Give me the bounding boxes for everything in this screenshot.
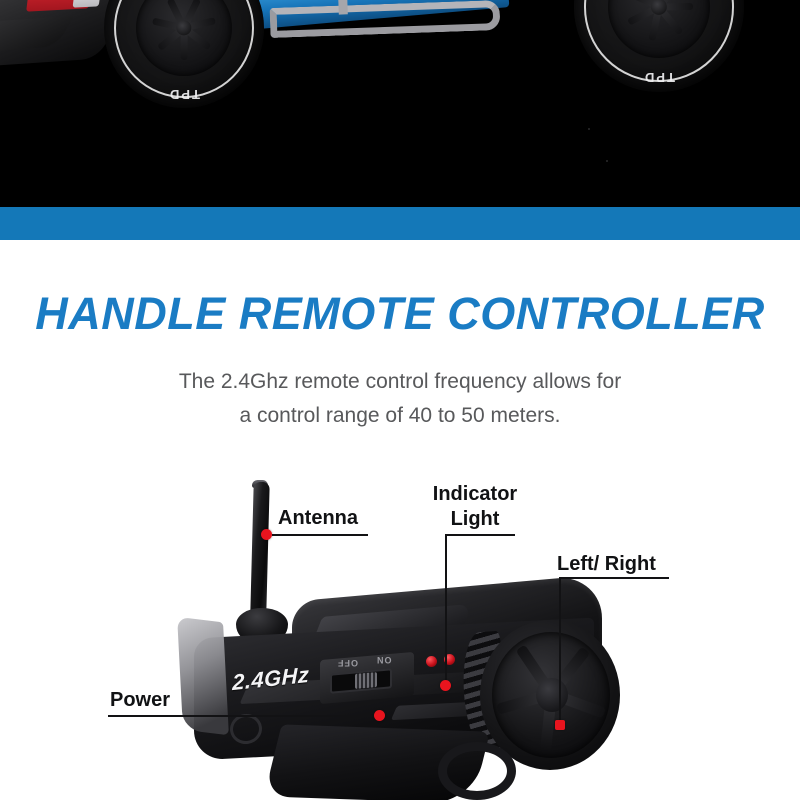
car-rear-fender bbox=[0, 0, 116, 68]
car-wheel-left: TPD bbox=[104, 0, 264, 108]
blue-divider-bar bbox=[0, 207, 800, 240]
photo-speck bbox=[588, 128, 590, 130]
switch-off-label: OFF bbox=[337, 658, 358, 668]
callout-marker-antenna bbox=[261, 529, 272, 540]
callout-leader-power bbox=[108, 715, 380, 717]
controller-left-bezel bbox=[177, 617, 229, 736]
hero-product-photo: TPD TPD bbox=[0, 0, 800, 207]
tyre-brand-text: TPD bbox=[643, 70, 675, 85]
product-detail-page: TPD TPD HAND bbox=[0, 0, 800, 800]
callout-marker-indicator-light bbox=[440, 680, 451, 691]
callout-leader-indicator-v bbox=[445, 534, 447, 686]
subtitle-line-1: The 2.4Ghz remote control frequency allo… bbox=[0, 365, 800, 399]
callout-leader-left-right-h bbox=[559, 577, 669, 579]
indicator-light-line-2: Light bbox=[425, 507, 525, 532]
callout-leader-indicator-h bbox=[445, 534, 515, 536]
remote-controller-diagram: 2.4GHz OFF ON Antenna bbox=[0, 460, 800, 800]
callout-label-left-right: Left/ Right bbox=[557, 552, 656, 577]
page-title: HANDLE REMOTE CONTROLLER bbox=[0, 288, 800, 340]
power-switch-knob[interactable] bbox=[355, 672, 377, 689]
indicator-light-line-1: Indicator bbox=[425, 482, 525, 507]
steering-dial-hub bbox=[536, 678, 568, 712]
photo-speck bbox=[606, 160, 608, 162]
remote-controller-illustration: 2.4GHz OFF ON bbox=[180, 470, 660, 800]
callout-marker-power bbox=[374, 710, 385, 721]
car-wheel-right: TPD bbox=[574, 0, 744, 92]
antenna-rod bbox=[250, 482, 269, 614]
trigger-guard-ring bbox=[438, 742, 516, 800]
switch-on-label: ON bbox=[376, 655, 392, 665]
callout-label-indicator-light: Indicator Light bbox=[425, 482, 525, 532]
subtitle-line-2: a control range of 40 to 50 meters. bbox=[0, 399, 800, 433]
tyre-brand-text: TPD bbox=[168, 87, 200, 102]
callout-leader-left-right-v bbox=[559, 577, 561, 725]
callout-marker-left-right bbox=[555, 720, 565, 730]
callout-leader-antenna bbox=[272, 534, 368, 536]
callout-label-power: Power bbox=[110, 688, 170, 713]
rc-car-scene: TPD TPD bbox=[0, 0, 800, 207]
page-subtitle: The 2.4Ghz remote control frequency allo… bbox=[0, 365, 800, 433]
indicator-led-1 bbox=[426, 656, 437, 667]
callout-label-antenna: Antenna bbox=[278, 506, 358, 531]
